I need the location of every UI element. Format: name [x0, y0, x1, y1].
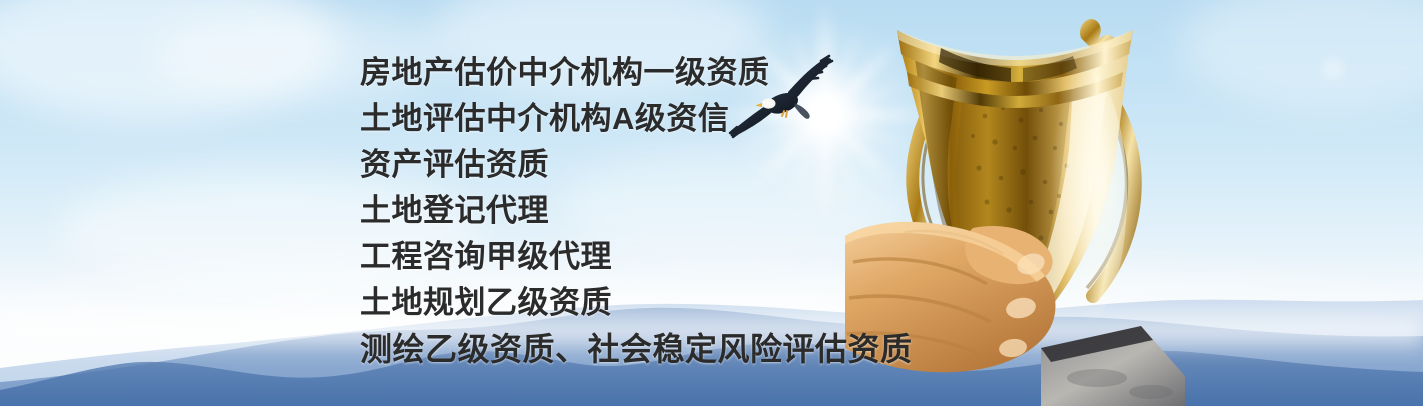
headline-list: 房地产估价中介机构一级资质土地评估中介机构A级资信资产评估资质土地登记代理工程咨…	[360, 57, 980, 365]
headline-line: 测绘乙级资质、社会稳定风险评估资质	[360, 333, 980, 365]
headline-line: 土地规划乙级资质	[360, 287, 980, 318]
lens-orb	[1322, 58, 1344, 80]
hero-banner: 房地产估价中介机构一级资质土地评估中介机构A级资信资产评估资质土地登记代理工程咨…	[0, 0, 1423, 406]
headline-line: 资产评估资质	[360, 149, 980, 180]
lens-orb	[70, 300, 96, 326]
headline-line: 工程咨询甲级代理	[360, 241, 980, 272]
cloud-decoration	[0, 0, 340, 120]
cloud-decoration	[1180, 0, 1423, 110]
headline-line: 房地产估价中介机构一级资质	[360, 57, 980, 88]
headline-line: 土地登记代理	[360, 195, 980, 226]
headline-line: 土地评估中介机构A级资信	[360, 103, 980, 134]
